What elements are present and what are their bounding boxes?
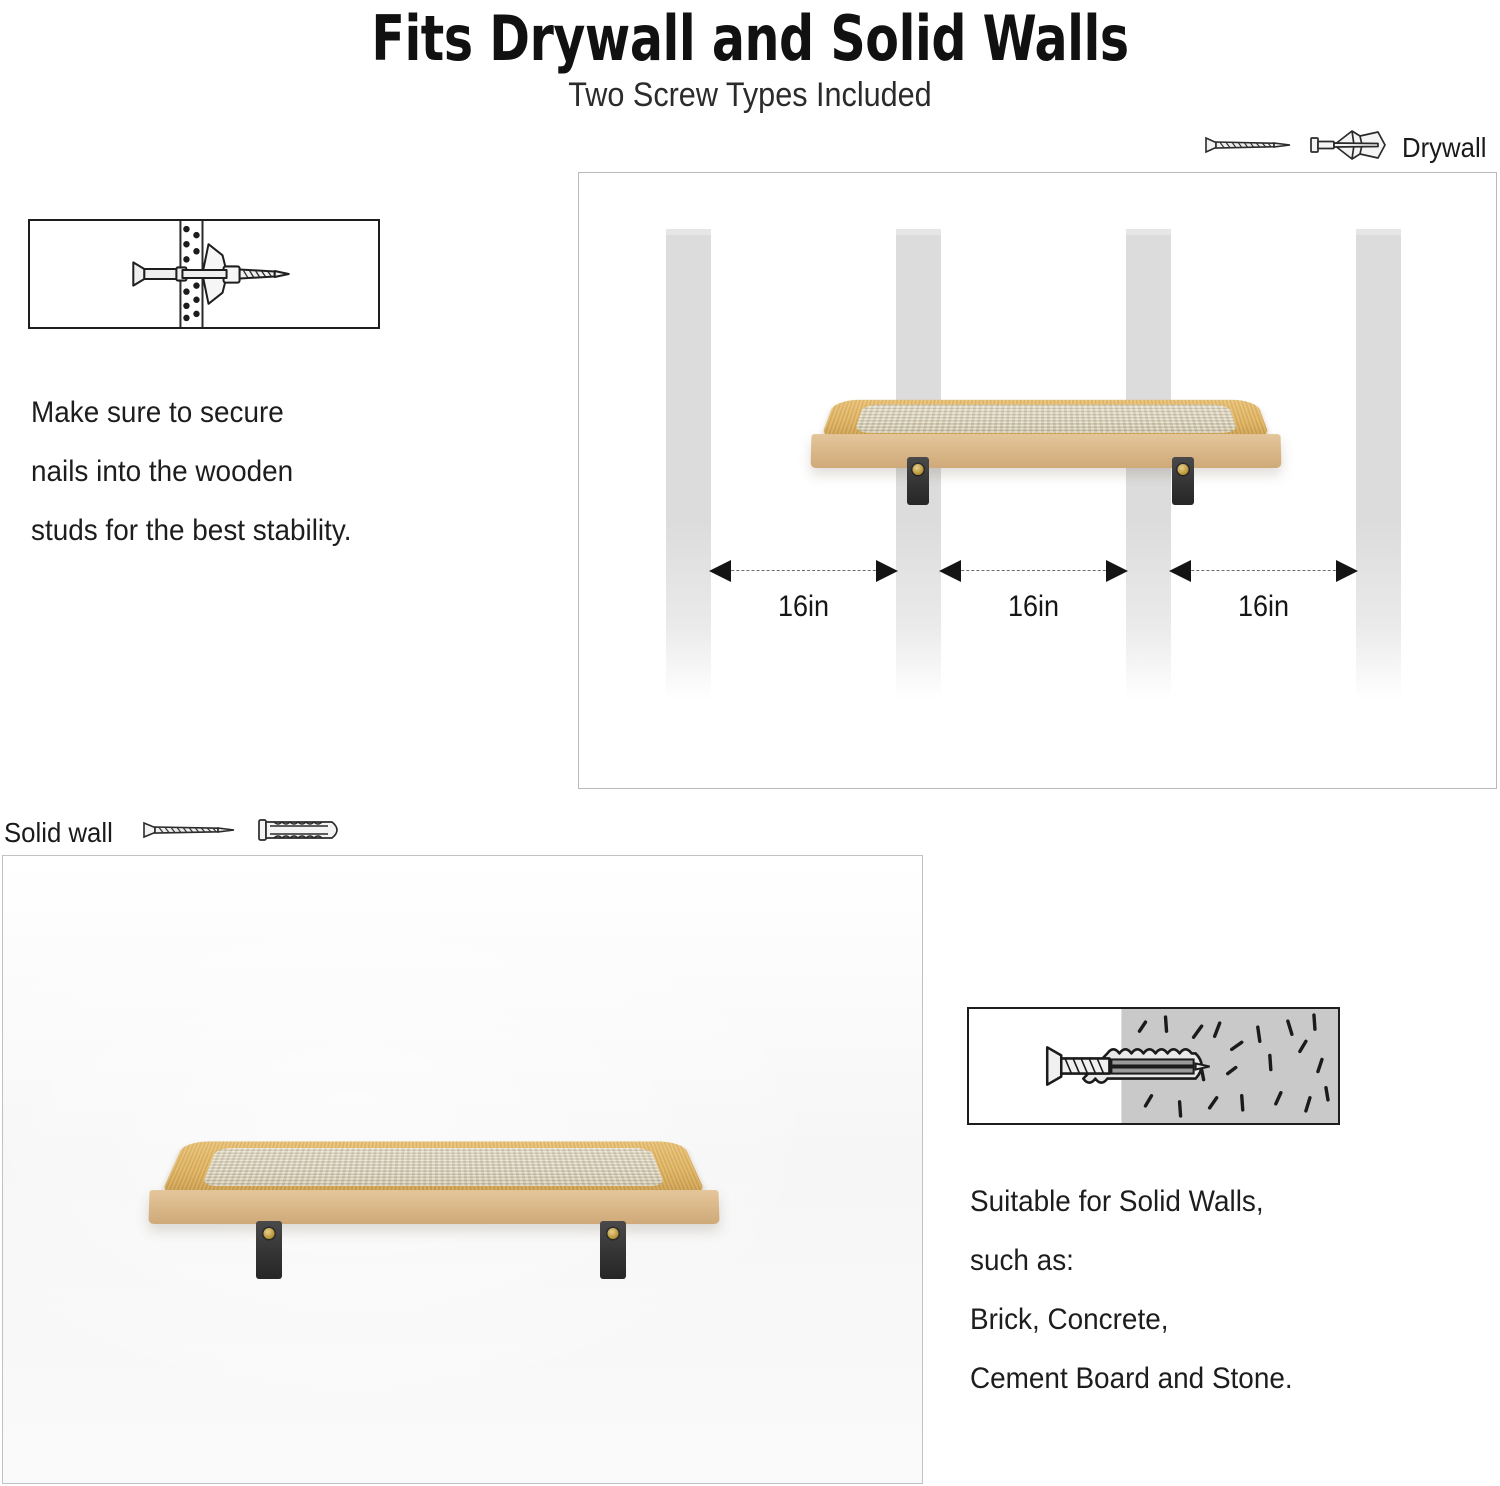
drywall-note-line-2: nails into the wooden — [31, 442, 351, 501]
arrow-right-icon — [1106, 560, 1128, 582]
brick-wall-scene-panel — [2, 855, 923, 1484]
arrow-right-icon — [1336, 560, 1358, 582]
solid-note-line-1: Suitable for Solid Walls, — [970, 1172, 1293, 1231]
dimension-label: 16in — [1180, 590, 1347, 624]
solid-wall-instruction-text: Suitable for Solid Walls, such as: Brick… — [970, 1172, 1293, 1408]
screw-icon — [1202, 132, 1294, 163]
sisal-mat-surface — [854, 405, 1237, 433]
toggle-anchor-icon — [1308, 128, 1388, 167]
cat-shelf-product-drywall — [811, 363, 1281, 468]
drywall-legend-label: Drywall — [1402, 132, 1486, 164]
mounting-bracket-left — [907, 457, 929, 505]
solid-note-line-4: Cement Board and Stone. — [970, 1349, 1293, 1408]
solid-note-line-2: such as: — [970, 1231, 1293, 1290]
drywall-note-line-3: studs for the best stability. — [31, 501, 351, 560]
arrow-left-icon — [1169, 560, 1191, 582]
dimension-line — [1171, 570, 1356, 571]
stud-spacing-3: 16in — [1171, 560, 1356, 582]
wooden-board — [148, 1190, 719, 1224]
stud-spacing-1: 16in — [711, 560, 896, 582]
stud-spacing-2: 16in — [941, 560, 1126, 582]
mounting-bracket-right — [600, 1221, 626, 1279]
arrow-left-icon — [939, 560, 961, 582]
arrow-right-icon — [876, 560, 898, 582]
drywall-scene-panel: 16in 16in 16in — [578, 172, 1497, 789]
drywall-note-line-1: Make sure to secure — [31, 383, 351, 442]
sisal-mat-surface — [203, 1148, 666, 1186]
screw-icon — [140, 817, 238, 848]
mounting-bracket-left — [256, 1221, 282, 1279]
drywall-legend: Drywall — [1202, 128, 1494, 167]
dimension-line — [711, 570, 896, 571]
sisal-mat-border — [160, 1142, 707, 1196]
wall-stud-1 — [666, 229, 711, 700]
dimension-label: 16in — [950, 590, 1117, 624]
dimension-label: 16in — [720, 590, 887, 624]
infographic-page: Fits Drywall and Solid Walls Two Screw T… — [0, 0, 1500, 1486]
arrow-left-icon — [709, 560, 731, 582]
wooden-board — [811, 434, 1282, 468]
toggle-anchor-cross-section-diagram — [28, 219, 380, 329]
wall-stud-4 — [1356, 229, 1401, 700]
mounting-bracket-right — [1172, 457, 1194, 505]
wall-plug-icon — [256, 815, 348, 850]
drywall-instruction-text: Make sure to secure nails into the woode… — [31, 383, 351, 560]
solid-wall-legend-label: Solid wall — [4, 817, 113, 849]
solid-wall-legend: Solid wall — [4, 815, 348, 850]
dimension-line — [941, 570, 1126, 571]
wall-plug-cross-section-diagram — [967, 1007, 1340, 1125]
page-title: Fits Drywall and Solid Walls — [90, 2, 1410, 75]
page-subtitle: Two Screw Types Included — [75, 76, 1425, 115]
cat-shelf-product-brick — [149, 1089, 719, 1224]
solid-note-line-3: Brick, Concrete, — [970, 1290, 1293, 1349]
